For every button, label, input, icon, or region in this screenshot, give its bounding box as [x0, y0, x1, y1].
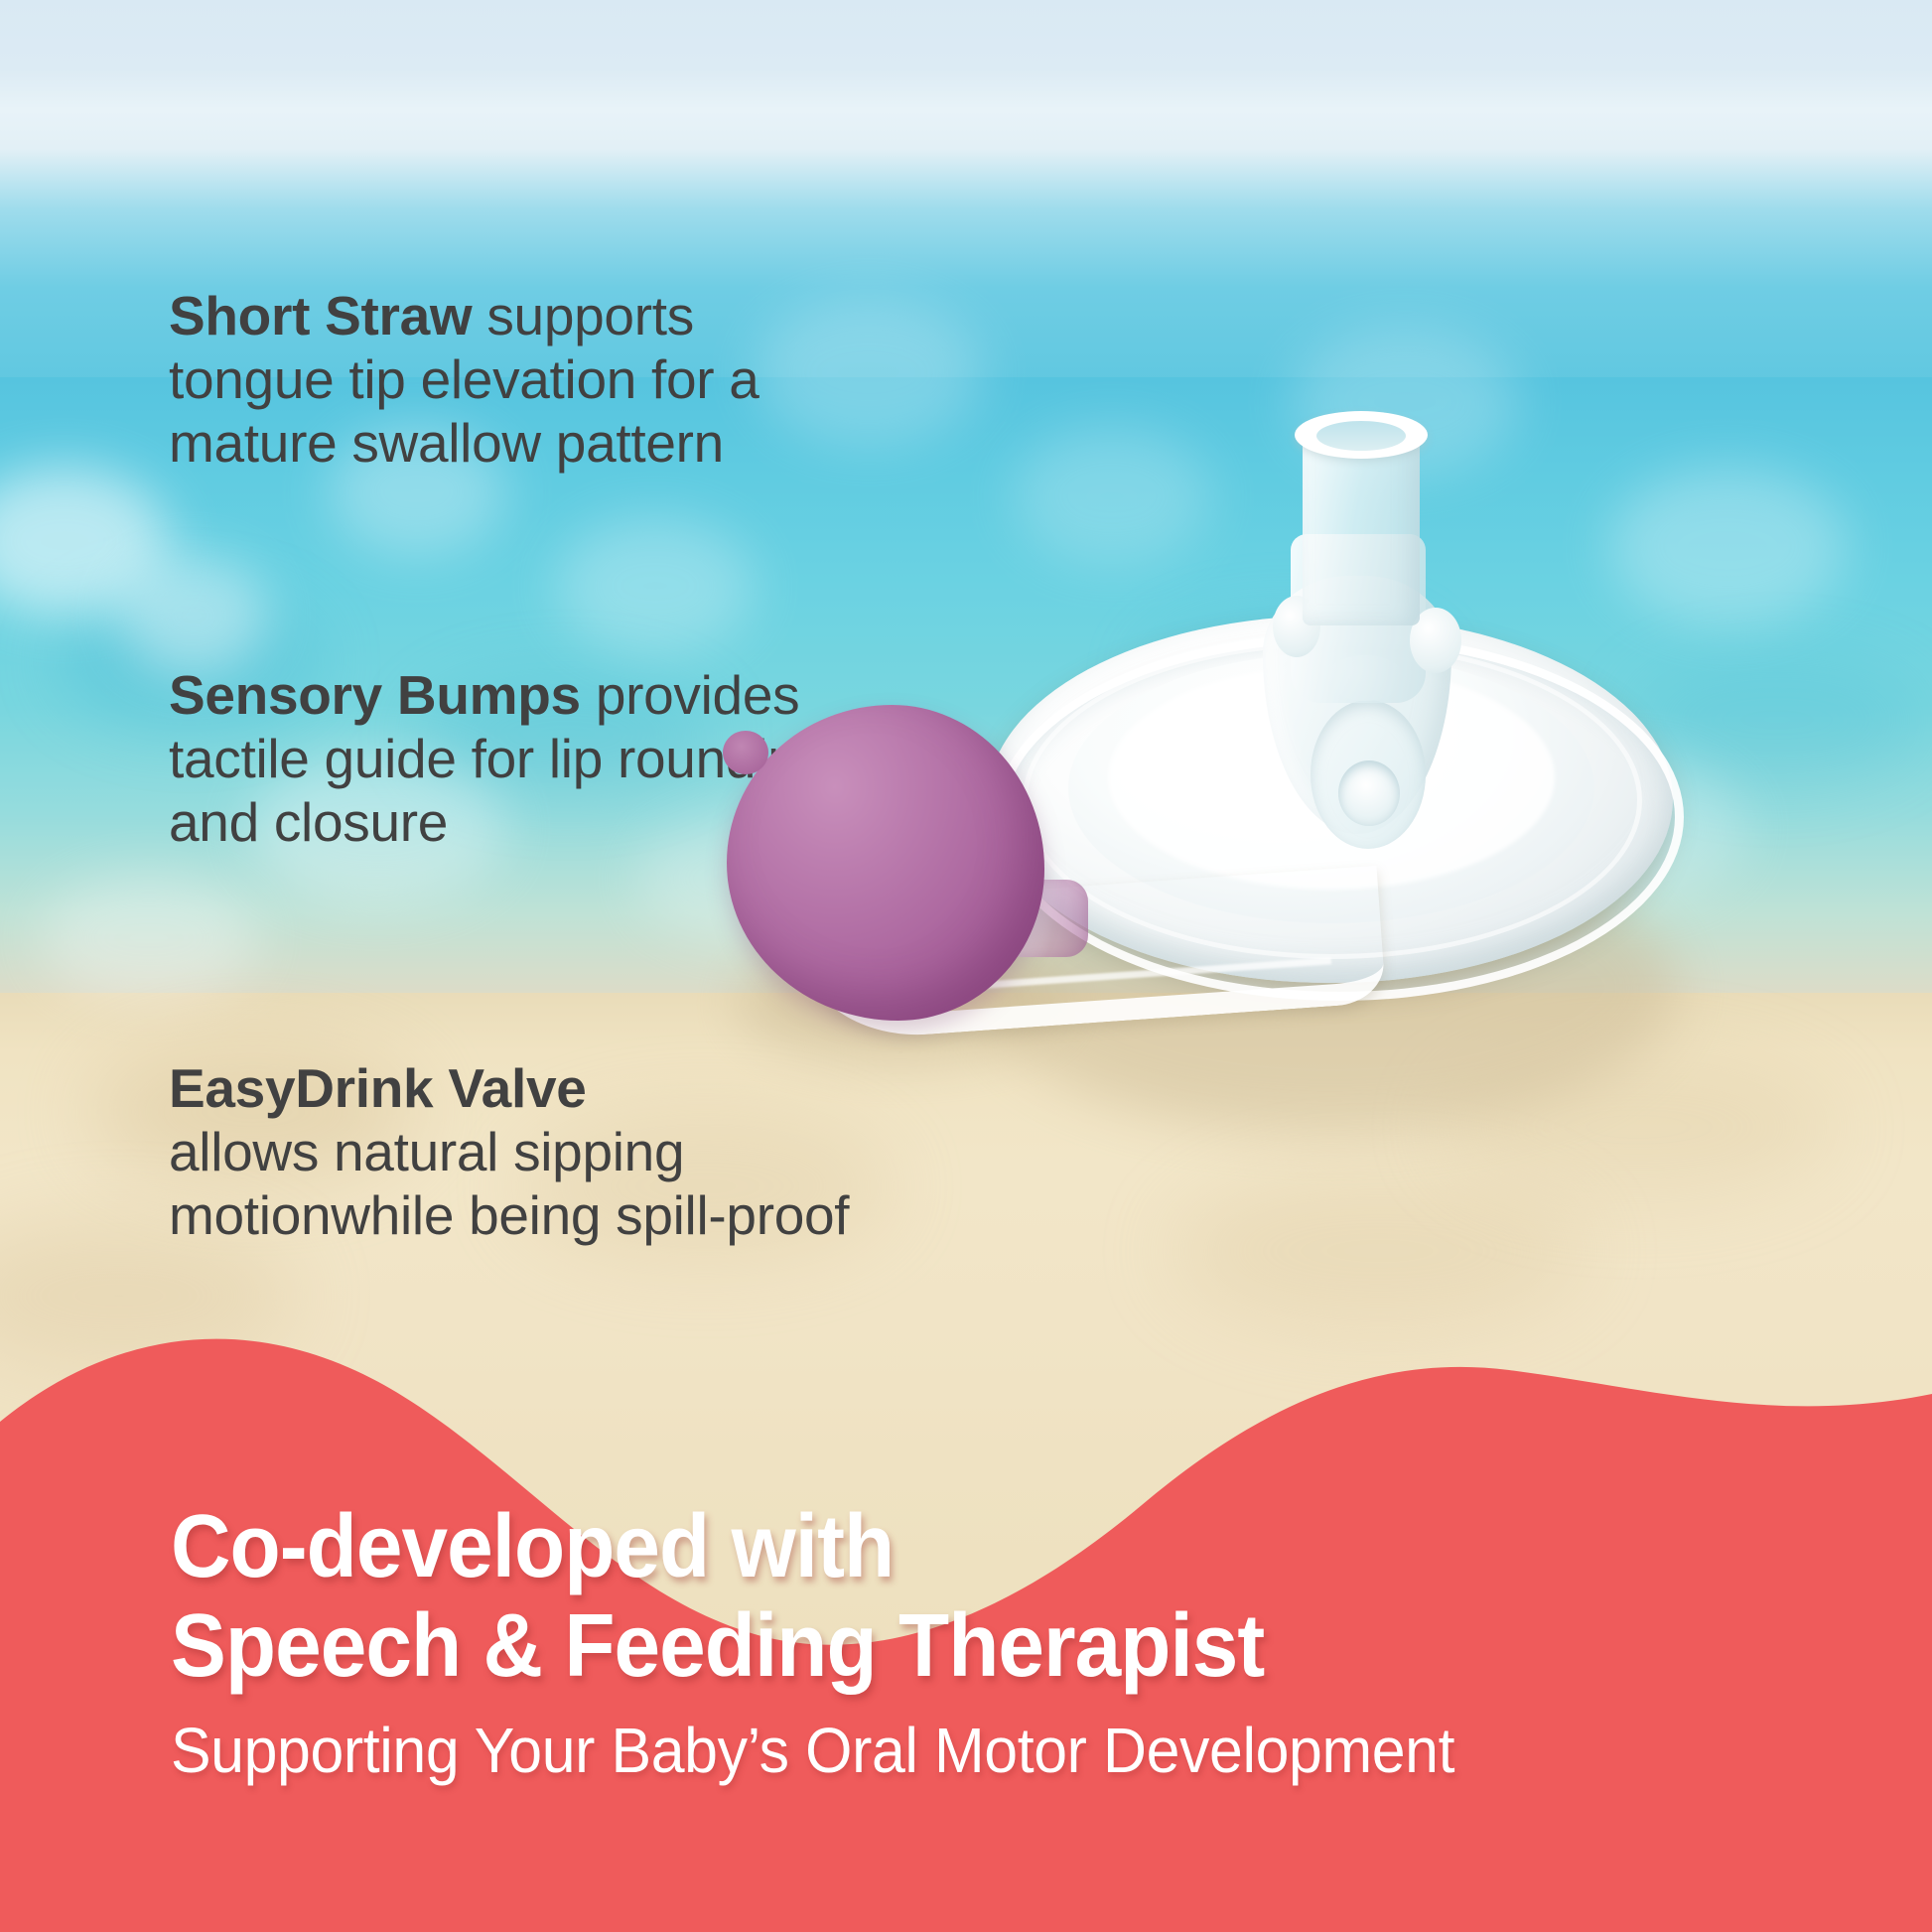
bokeh-highlight	[119, 556, 268, 675]
feature-headline-row: EasyDrink Valve	[169, 1056, 849, 1120]
product-image-sippy-lid	[874, 516, 1932, 1172]
valve-opening	[1338, 760, 1400, 826]
feature-line-1: tongue tip elevation for a	[169, 347, 759, 411]
feature-headline-row: Sensory Bumps provides	[169, 663, 828, 727]
bottom-banner: Co-developed with Speech & Feeding Thera…	[0, 1330, 1932, 1932]
banner-headline-line1: Co-developed with	[171, 1497, 1796, 1596]
feature-headline-row: Short Straw supports	[169, 284, 759, 347]
bokeh-highlight	[556, 516, 755, 655]
banner-text-group: Co-developed with Speech & Feeding Thera…	[171, 1497, 1918, 1787]
feature-line-0: supports	[486, 285, 694, 346]
bokeh-highlight	[755, 298, 983, 447]
feature-easydrink-valve: EasyDrink Valve allows natural sipping m…	[169, 1056, 849, 1247]
sand-texture	[1172, 1172, 1588, 1330]
banner-subtitle: Supporting Your Baby’s Oral Motor Develo…	[171, 1714, 1831, 1787]
feature-line-1: allows natural sipping	[169, 1120, 849, 1183]
feature-headline: Sensory Bumps	[169, 664, 581, 726]
feature-headline: EasyDrink Valve	[169, 1057, 587, 1119]
infographic-canvas: Short Straw supports tongue tip elevatio…	[0, 0, 1932, 1932]
banner-headline-line2: Speech & Feeding Therapist	[171, 1596, 1796, 1696]
bokeh-highlight	[40, 874, 258, 1003]
feature-line-0: provides	[596, 664, 800, 726]
valve-nub	[723, 731, 768, 774]
feature-line-2: mature swallow pattern	[169, 411, 759, 475]
feature-short-straw: Short Straw supports tongue tip elevatio…	[169, 284, 759, 475]
spout-opening	[1316, 421, 1406, 451]
feature-line-2: motionwhile being spill-proof	[169, 1183, 849, 1247]
feature-headline: Short Straw	[169, 285, 472, 346]
